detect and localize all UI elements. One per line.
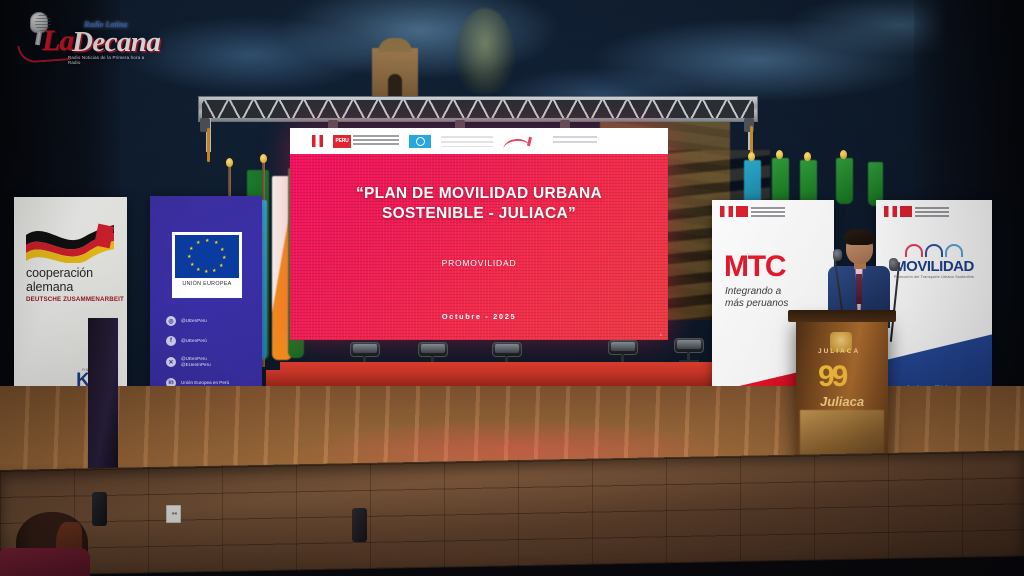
eu-flag-box: ★ ★ ★ ★ ★ ★ ★ ★ ★ ★ ★ ★ UNIÓN EUROPEA [172, 232, 242, 298]
led-presentation-screen: PERU “PLAN DE MOVILIDAD URBANA SOSTENIBL… [290, 128, 668, 340]
podium-top-surface [788, 310, 896, 322]
ministry-wordmark-lines [751, 207, 785, 217]
stage-light [418, 342, 448, 364]
eu-handle: @UEenPerú [181, 338, 207, 344]
arc-lightblue-icon [945, 244, 963, 257]
eu-social-row: ◎ @UEenPeru [166, 316, 258, 326]
speaker-hair [844, 229, 875, 245]
stage-light [350, 342, 380, 364]
slide-date: Octubre - 2025 [290, 312, 668, 321]
audience-seat [0, 548, 90, 576]
microphone-icon-left [833, 249, 842, 261]
station-watermark-logo: Radio Latina La Decana Radio Noticias de… [12, 8, 146, 70]
event-photo-scene: PERU “PLAN DE MOVILIDAD URBANA SOSTENIBL… [0, 0, 1024, 576]
eu-social-row: f @UEenPerú [166, 336, 258, 346]
promovilidad-subtitle: Promoción del Transporte Urbano Sostenib… [886, 275, 982, 279]
ministry-wordmark-lines [915, 207, 949, 217]
mtc-tagline-line2: más peruanos [725, 298, 788, 310]
lighting-truss [198, 96, 758, 122]
podium-city-script: Juliaca [820, 394, 864, 409]
stage-light [608, 340, 638, 362]
peru-flag-logo-icon [312, 135, 323, 148]
wall-outlet [166, 505, 181, 523]
watermark-tagline: Radio Noticias de la Primera hora a Radi… [68, 55, 146, 65]
swoosh-logo-icon [503, 135, 543, 148]
podium-anniversary-number: 99 [818, 362, 845, 392]
mtc-tagline-line1: Integrando a [725, 286, 788, 298]
watermark-name-part1: La [42, 24, 73, 58]
arc-blue-icon [925, 244, 943, 257]
grey-wordmark-logo [553, 136, 597, 146]
truss-cable-left [207, 128, 210, 162]
german-title-line1: cooperación [26, 267, 124, 281]
mural-figure [455, 8, 515, 94]
faint-wordmark-logo [441, 136, 493, 147]
facebook-icon: f [166, 336, 176, 346]
eu-handle: @UEenPeru @EUenInPeru [181, 356, 211, 368]
eu-flag-label: UNIÓN EUROPEA [175, 281, 239, 287]
podium-side-panel [88, 318, 118, 480]
promovilidad-wordmark: MOVILIDAD [886, 258, 982, 275]
peru-flag-icon [720, 206, 733, 217]
foreground-stone-wall [0, 450, 1024, 576]
ministry-red-icon [736, 206, 748, 217]
slide-logo-bar: PERU [290, 128, 668, 154]
microphone-icon-right [889, 258, 898, 271]
blue-un-logo-icon [409, 135, 431, 148]
flag-finial-l2 [260, 154, 267, 163]
promovilidad-arcs-icon [886, 244, 982, 257]
flag-finial-r2 [776, 150, 783, 159]
flag-finial-r1 [748, 152, 755, 161]
peru-flag-icon [884, 206, 897, 217]
instagram-icon: ◎ [166, 316, 176, 326]
wall-speaker-left [92, 492, 107, 526]
eu-flag-icon: ★ ★ ★ ★ ★ ★ ★ ★ ★ ★ ★ ★ [175, 235, 239, 278]
podium-city-label: JULIACA [818, 348, 860, 355]
wall-speaker-right [352, 508, 367, 542]
eu-social-row: ✕ @UEenPeru @EUenInPeru [166, 356, 258, 368]
pm-gov-logo-row [884, 206, 949, 217]
flag-right-green1 [772, 158, 789, 206]
ministry-logo-icon: PERU [333, 135, 399, 148]
flag-right-green3 [836, 158, 853, 204]
slide-body: “PLAN DE MOVILIDAD URBANA SOSTENIBLE - J… [290, 154, 668, 340]
flag-finial-r4 [840, 150, 847, 159]
stage-light [492, 342, 522, 364]
mtc-wordmark: MTC [724, 250, 785, 284]
truss-bracing [202, 100, 754, 118]
slide-title: “PLAN DE MOVILIDAD URBANA SOSTENIBLE - J… [290, 184, 668, 224]
stage-light [674, 338, 704, 360]
german-subtitle: DEUTSCHE ZUSAMMENARBEIT [26, 296, 124, 303]
german-title-line2: alemana [26, 281, 124, 295]
eu-handle: @UEenPeru [181, 318, 207, 324]
slide-subtitle: PROMOVILIDAD [290, 258, 668, 268]
ministry-red-icon [900, 206, 912, 217]
promovilidad-logo: MOVILIDAD Promoción del Transporte Urban… [886, 244, 982, 279]
mtc-gov-logo-row [720, 206, 785, 217]
flag-finial-r3 [804, 152, 811, 161]
german-flag-wave-icon [24, 219, 116, 263]
mtc-tagline: Integrando a más peruanos [725, 286, 788, 310]
speaker-tie [856, 274, 862, 304]
german-cooperation-text: cooperación alemana DEUTSCHE ZUSAMMENARB… [26, 267, 124, 303]
arc-red-icon [905, 244, 923, 257]
flag-finial-l1 [226, 158, 233, 167]
x-twitter-icon: ✕ [166, 357, 176, 367]
